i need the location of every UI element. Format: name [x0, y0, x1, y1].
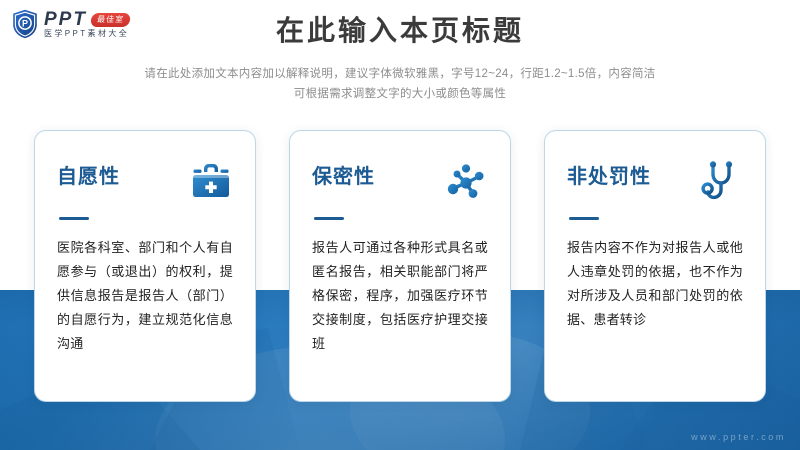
card-divider: [569, 217, 599, 220]
card-header: 自愿性: [57, 159, 233, 203]
card-body: 报告内容不作为对报告人或他人违章处罚的依据，也不作为对所涉及人员和部门处罚的依据…: [567, 236, 743, 332]
card-divider: [59, 217, 89, 220]
card-header: 非处罚性: [567, 159, 743, 203]
card-non-punitive[interactable]: 非处罚性: [544, 130, 766, 402]
page-subtitle-line-1: 请在此处添加文本内容加以解释说明，建议字体微软雅黑，字号12~24，行距1.2~…: [0, 64, 800, 84]
card-body: 医院各科室、部门和个人有自愿参与（或退出）的权利，提供信息报告是报告人（部门）的…: [57, 236, 233, 356]
card-confidential[interactable]: 保密性: [289, 130, 511, 402]
page-title: 在此输入本页标题: [0, 14, 800, 48]
card-header: 保密性: [312, 159, 488, 203]
card-title: 保密性: [312, 159, 375, 189]
card-body: 报告人可通过各种形式具名或匿名报告，相关职能部门将严格保密，程序，加强医疗环节交…: [312, 236, 488, 356]
stethoscope-icon: [699, 159, 743, 203]
card-title: 非处罚性: [567, 159, 651, 189]
card-divider: [314, 217, 344, 220]
site-watermark: www.ppter.com: [691, 432, 786, 442]
page-subtitle-line-2: 可根据需求调整文字的大小或颜色等属性: [0, 84, 800, 104]
page-subtitle: 请在此处添加文本内容加以解释说明，建议字体微软雅黑，字号12~24，行距1.2~…: [0, 64, 800, 104]
card-group: 自愿性: [0, 130, 800, 402]
molecule-network-icon: [444, 159, 488, 203]
card-title: 自愿性: [57, 159, 120, 189]
slide-root: Confidential www.ppter.com P PPT 最佳室 医学P…: [0, 0, 800, 450]
card-voluntary[interactable]: 自愿性: [34, 130, 256, 402]
medical-kit-icon: [189, 159, 233, 203]
